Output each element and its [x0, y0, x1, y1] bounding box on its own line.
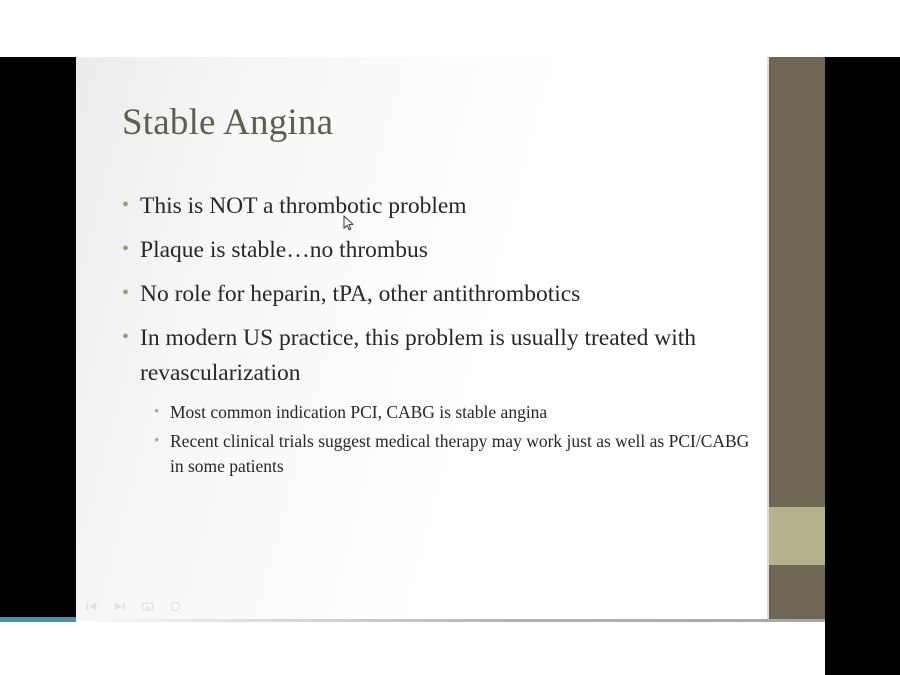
slide-canvas[interactable]: Stable Angina • This is NOT a thrombotic… [76, 57, 825, 619]
bullet-dot-icon: • [154, 400, 170, 420]
slideshow-controls[interactable] [84, 600, 183, 613]
bullet-dot-icon: • [154, 429, 170, 449]
slide-menu-icon[interactable] [168, 600, 183, 613]
slide-decorative-band [769, 57, 825, 619]
band-segment-lower [769, 565, 825, 619]
bullet-list: • This is NOT a thrombotic problem • Pla… [122, 189, 752, 483]
list-item-label: Plaque is stable…no thrombus [140, 233, 428, 268]
bullet-dot-icon: • [122, 277, 140, 303]
letterbox-left [0, 57, 76, 618]
presentation-viewer: Stable Angina • This is NOT a thrombotic… [0, 0, 900, 675]
sub-list-item-label: Most common indication PCI, CABG is stab… [170, 400, 547, 425]
teal-accent-strip [0, 617, 76, 622]
bullet-dot-icon: • [122, 233, 140, 259]
sub-list-item-label: Recent clinical trials suggest medical t… [170, 429, 752, 479]
sub-list-item: • Recent clinical trials suggest medical… [122, 429, 752, 479]
bullet-dot-icon: • [122, 321, 140, 347]
previous-slide-icon[interactable] [84, 600, 99, 613]
slide-drop-shadow [76, 619, 825, 622]
list-item: • This is NOT a thrombotic problem [122, 189, 752, 224]
slide-content: Stable Angina • This is NOT a thrombotic… [76, 57, 769, 619]
list-item: • In modern US practice, this problem is… [122, 321, 752, 391]
bullet-dot-icon: • [122, 189, 140, 215]
list-item-label: In modern US practice, this problem is u… [140, 321, 752, 391]
band-segment-upper [769, 57, 825, 507]
list-item: • Plaque is stable…no thrombus [122, 233, 752, 268]
list-item-label: No role for heparin, tPA, other antithro… [140, 277, 580, 312]
page-title: Stable Angina [122, 101, 333, 144]
sub-list-item: • Most common indication PCI, CABG is st… [122, 400, 752, 425]
pen-annotate-icon[interactable] [140, 600, 155, 613]
letterbox-bottom [0, 600, 76, 618]
band-segment-accent [769, 507, 825, 565]
next-slide-icon[interactable] [112, 600, 127, 613]
letterbox-right [825, 57, 900, 675]
list-item-label: This is NOT a thrombotic problem [140, 189, 467, 224]
list-item: • No role for heparin, tPA, other antith… [122, 277, 752, 312]
